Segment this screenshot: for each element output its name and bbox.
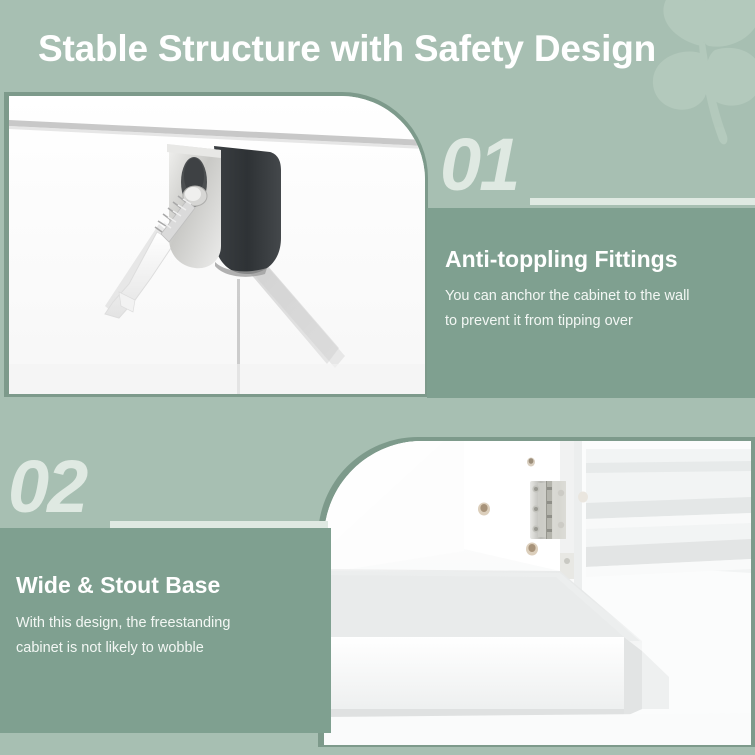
feature-block-02: 02 Wide & Stout Base With this design, t… [0,432,755,755]
page-title-text: Stable Structure with Safety Design [38,30,656,67]
feature-description-01: You can anchor the cabinet to the wall t… [445,284,745,334]
feature-divider-02 [110,521,328,528]
feature-description-01-line2: to prevent it from tipping over [445,309,745,334]
feature-divider-01 [530,198,755,205]
feature-description-02-line2: cabinet is not likely to wobble [16,636,316,661]
feature-photo-01 [9,96,425,394]
feature-description-02-line1: With this design, the freestanding [16,611,316,636]
feature-panel-01: Anti-toppling Fittings You can anchor th… [427,208,755,398]
feature-number-02: 02 [8,450,86,524]
feature-panel-02: Wide & Stout Base With this design, the … [0,528,331,733]
feature-description-02: With this design, the freestanding cabin… [16,611,316,661]
page-title: Stable Structure with Safety Design [38,18,738,78]
feature-title-02: Wide & Stout Base [16,572,220,599]
feature-title-01: Anti-toppling Fittings [445,246,677,273]
feature-description-01-line1: You can anchor the cabinet to the wall [445,284,745,309]
feature-photo-02 [324,441,751,745]
feature-number-01: 01 [440,128,518,202]
feature-block-01: 01 Anti-toppling Fittings You can anchor… [0,88,755,400]
